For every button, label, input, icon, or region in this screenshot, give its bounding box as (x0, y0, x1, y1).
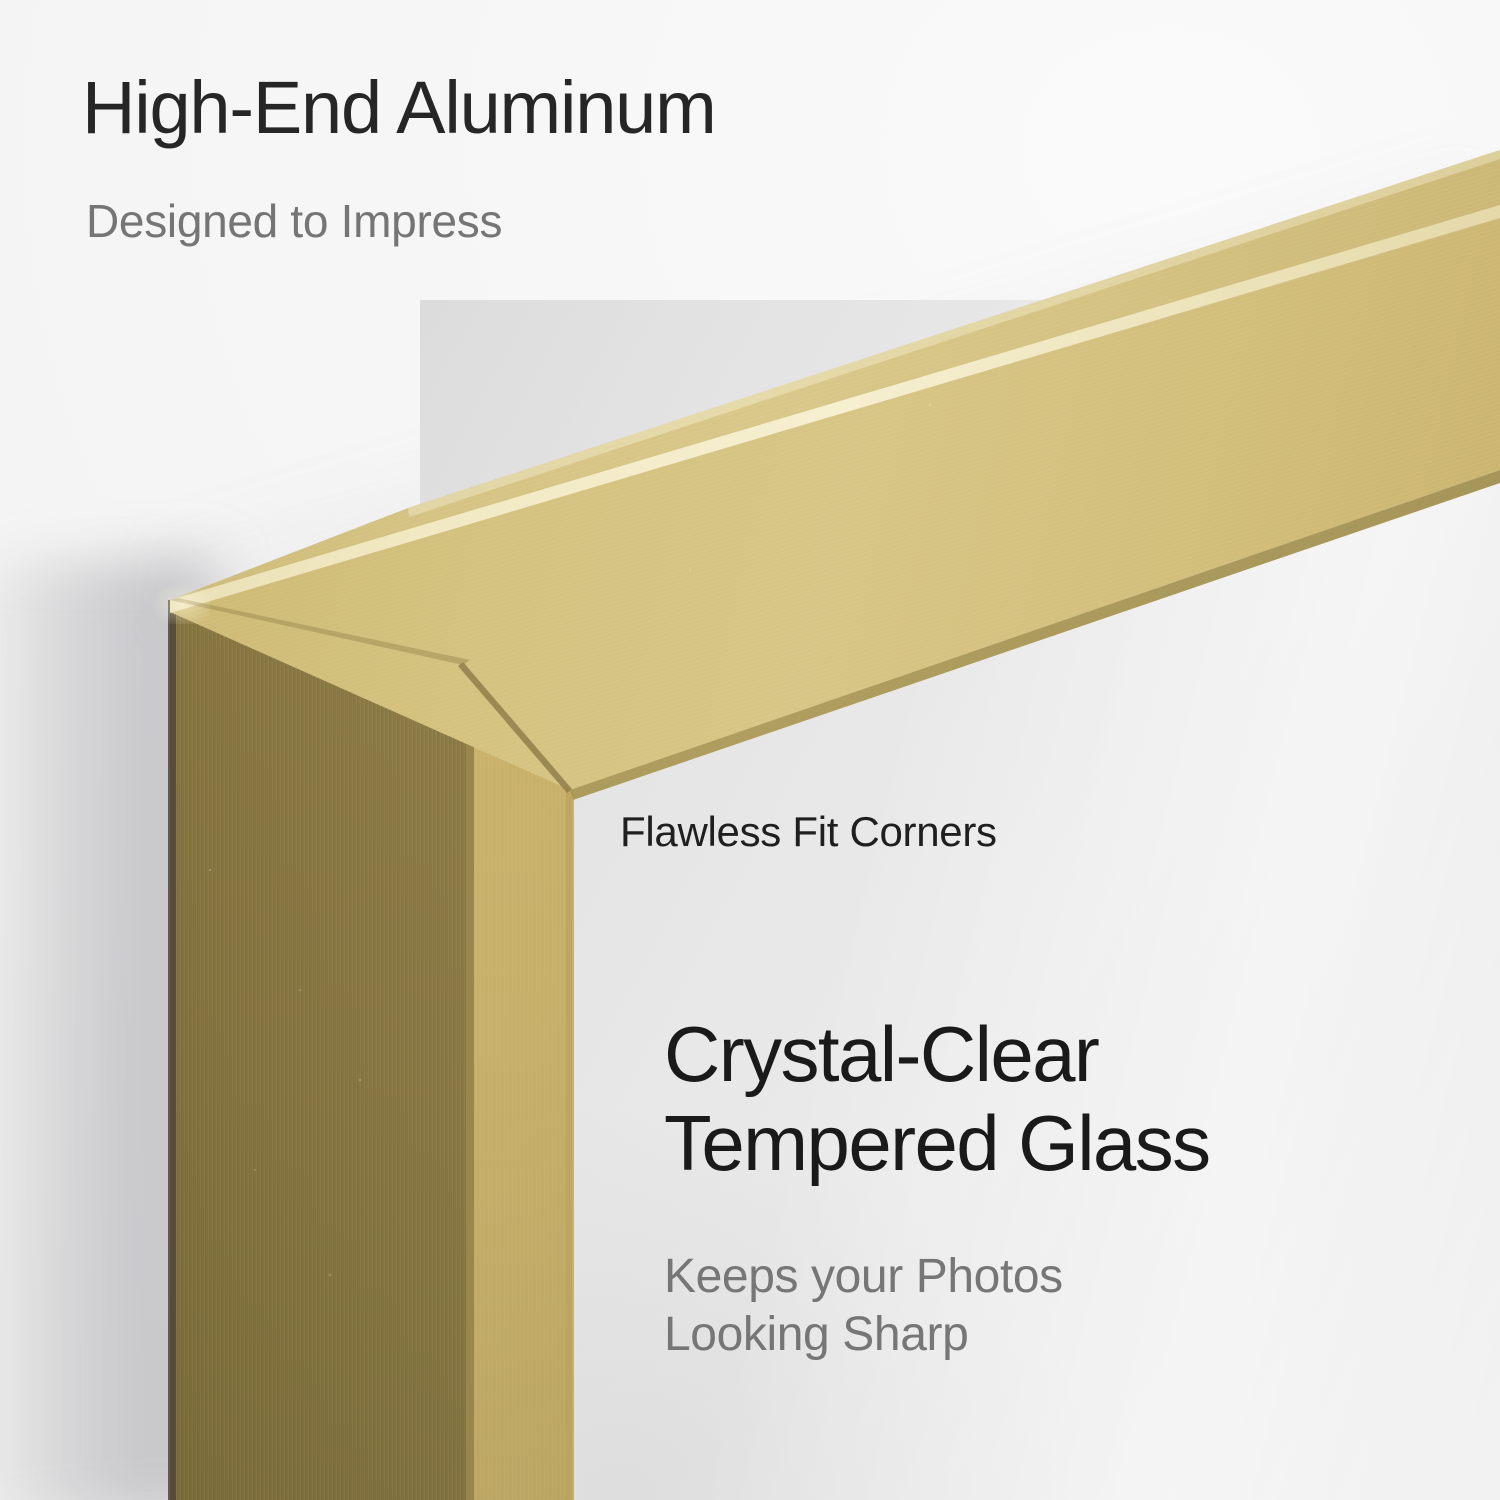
callout-tempered-glass-subtitle: Keeps your Photos Looking Sharp (664, 1248, 1063, 1363)
subhead-text: Designed to Impress (86, 196, 502, 247)
glass-title-line-2: Tempered Glass (664, 1099, 1210, 1188)
page-title: High-End Aluminum (82, 68, 716, 148)
frame-corner-vertex-highlight (150, 582, 210, 624)
product-feature-image: High-End Aluminum Designed to Impress Fl… (0, 0, 1500, 1500)
callout-tempered-glass-title: Crystal-Clear Tempered Glass (664, 1010, 1210, 1188)
corner-callout-text: Flawless Fit Corners (620, 808, 997, 856)
glass-subtitle-line-1: Keeps your Photos (664, 1248, 1063, 1306)
glass-title-line-1: Crystal-Clear (664, 1010, 1210, 1099)
page-subtitle: Designed to Impress (86, 196, 502, 247)
callout-flawless-fit-corners: Flawless Fit Corners (620, 808, 997, 856)
glass-subtitle-line-2: Looking Sharp (664, 1306, 1063, 1364)
headline-text: High-End Aluminum (82, 68, 716, 148)
